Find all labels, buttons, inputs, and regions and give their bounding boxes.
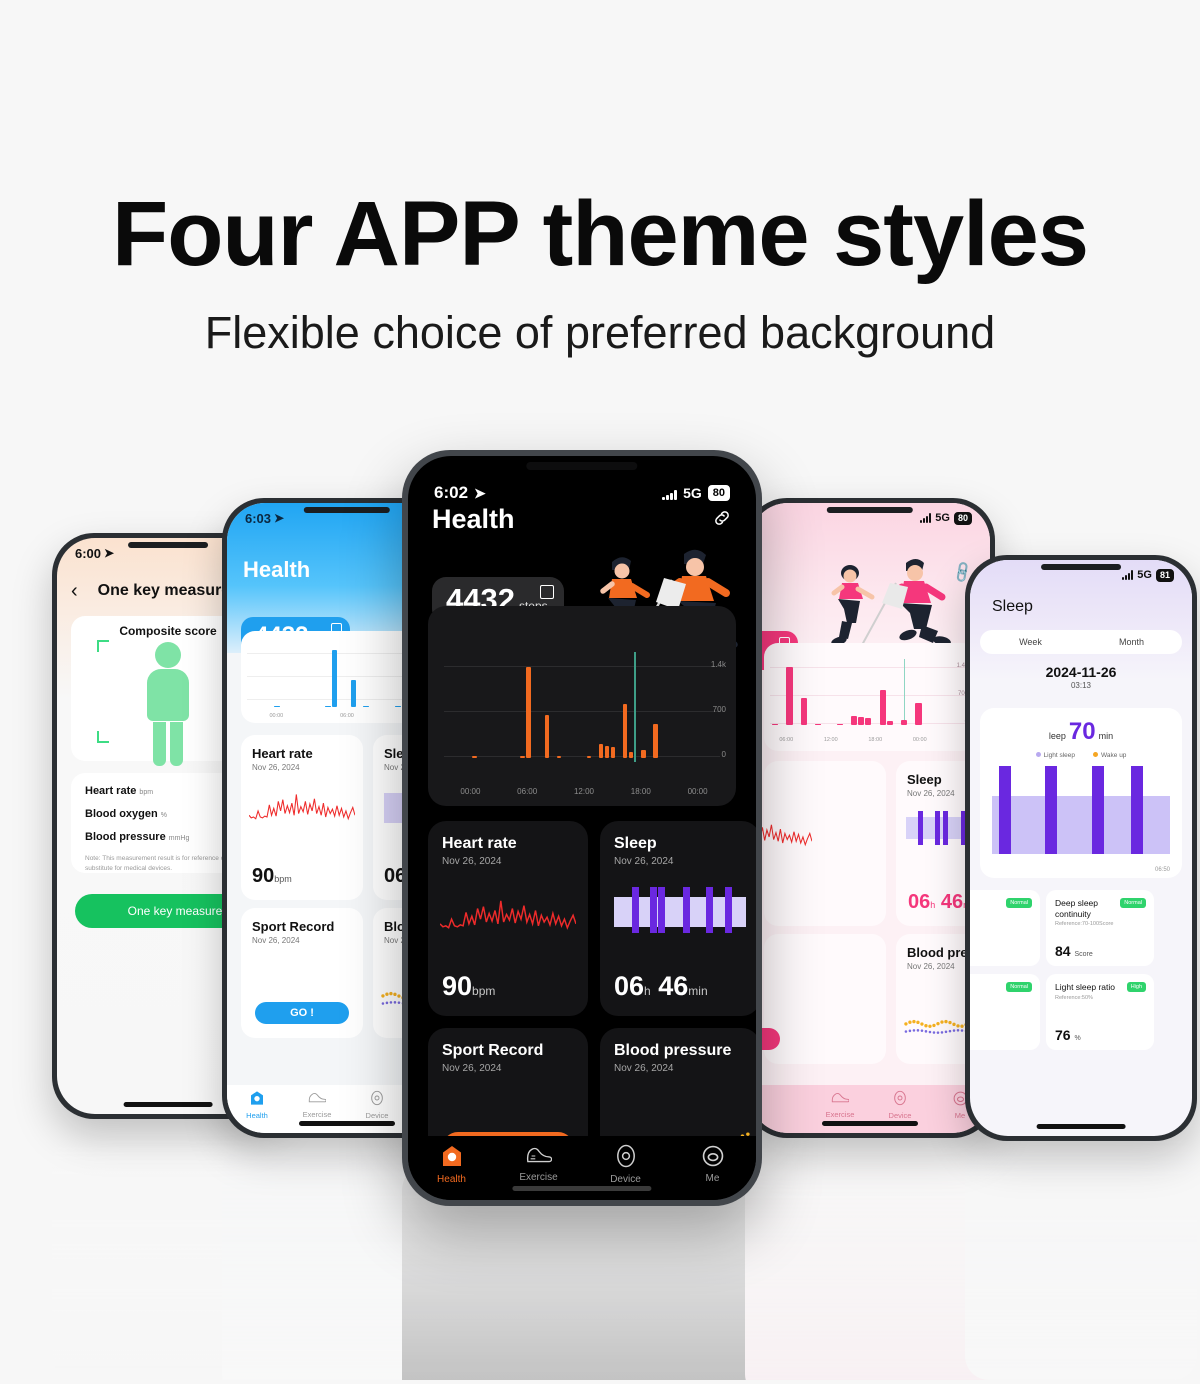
sleep-unit: min — [1099, 731, 1114, 741]
chevron-left-icon[interactable]: ‹ — [71, 581, 78, 601]
card-date: Nov 26, 2024 — [241, 934, 363, 945]
tab-label: Exercise — [519, 1172, 557, 1183]
sidebar-item-exercise[interactable]: Exercise — [810, 1091, 870, 1119]
sleep-total: leep70min — [980, 718, 1182, 746]
value-number: 84 — [1055, 943, 1071, 959]
person-icon — [669, 1145, 756, 1170]
bar — [641, 750, 646, 758]
bar — [786, 667, 792, 726]
share-icon[interactable] — [540, 585, 554, 599]
sleep-bar — [658, 887, 665, 933]
y-tick-0: 0 — [722, 750, 726, 759]
legend-light-sleep: Light sleep — [1036, 752, 1075, 759]
phone2-page-title: Health — [243, 557, 310, 583]
sleep-stage-chart — [992, 766, 1170, 854]
value-unit: bpm — [274, 874, 292, 884]
bar — [915, 703, 921, 725]
value-unit: Score — [1074, 951, 1092, 958]
y-tick-1400: 1.4k — [711, 660, 726, 669]
phone5-screen: 5G 81 Sleep Week Month 2024-11-26 03:13 … — [970, 560, 1192, 1136]
metric-unit: mmHg — [169, 835, 190, 842]
card-value: 90bpm — [252, 865, 292, 888]
card-date: Nov 26, 2024 — [600, 1060, 756, 1074]
bar — [472, 756, 477, 758]
human-body-icon — [147, 642, 189, 766]
legend-wake-up: Wake up — [1093, 752, 1126, 759]
phone5-page-title: Sleep — [992, 598, 1033, 616]
phone-mockup-dark-theme: 6:02 ➤ 5G 80 Health — [402, 450, 762, 1206]
signal-bars-icon — [920, 513, 931, 523]
metric-label: Blood oxygen — [85, 808, 158, 820]
promo-page: Four APP theme styles Flexible choice of… — [0, 0, 1200, 1384]
status-badge: High — [1127, 982, 1146, 992]
sleep-date: 2024-11-26 — [970, 664, 1192, 680]
metric-title: Deep sleep continuity — [1055, 898, 1121, 919]
metric-unit: % — [161, 812, 167, 819]
bar — [865, 718, 871, 725]
home-indicator — [299, 1121, 395, 1126]
steps-chart-ticks: 00:0006:0012:0018:0000:00 — [442, 787, 726, 796]
segment-week[interactable]: Week — [980, 630, 1081, 654]
shoe-icon — [287, 1091, 347, 1107]
sleep-bar — [706, 887, 713, 933]
signal-bars-icon — [662, 487, 677, 500]
value-number: 76 — [1055, 1027, 1071, 1043]
phone3-sleep-card[interactable]: Sleep Nov 26, 2024 06h 46min — [600, 821, 756, 1016]
ecg-line-icon — [249, 789, 355, 829]
tab-label: Me — [955, 1111, 965, 1120]
bar — [837, 724, 843, 725]
page-title: Four APP theme styles — [0, 188, 1200, 280]
shoe-icon — [810, 1091, 870, 1107]
bar — [772, 724, 778, 725]
bar — [801, 698, 807, 725]
bar — [605, 746, 610, 758]
sleep-metric-card[interactable]: Normal — [970, 890, 1040, 966]
sidebar-item-health[interactable]: Health — [227, 1090, 287, 1120]
signal-bars-icon — [1122, 570, 1133, 580]
bar — [526, 667, 531, 758]
bar — [351, 680, 356, 707]
sleep-bar — [683, 887, 690, 933]
tab-label: Me — [706, 1173, 720, 1184]
status-badge: Normal — [1120, 898, 1146, 908]
phone-mockup-pink-theme: 5G 80 🔗 — [745, 498, 995, 1138]
sleep-bar — [725, 887, 732, 933]
bar — [611, 747, 616, 758]
bar — [599, 744, 604, 758]
value-minutes: 46 — [941, 891, 963, 913]
value-unit: bpm — [472, 984, 495, 998]
bar — [520, 756, 525, 758]
tab-label: Exercise — [826, 1110, 855, 1119]
value-unit-m: min — [688, 984, 707, 998]
bar — [629, 752, 634, 758]
y-tick-700: 700 — [713, 705, 726, 714]
sidebar-item-device[interactable]: Device — [347, 1090, 407, 1120]
card-date: Nov 26, 2024 — [241, 761, 363, 772]
status-badge: Normal — [1006, 982, 1032, 992]
ecg-line-icon — [440, 893, 576, 941]
watch-icon — [870, 1090, 930, 1108]
network-type: 5G — [1137, 569, 1152, 581]
metric-value: 84 Score — [1055, 943, 1093, 959]
watch-icon — [582, 1144, 669, 1171]
bar — [587, 756, 592, 758]
page-subtitle: Flexible choice of preferred background — [0, 310, 1200, 355]
sidebar-item-device[interactable]: Device — [582, 1144, 669, 1185]
segment-month[interactable]: Month — [1081, 630, 1182, 654]
phone3-heart-rate-card[interactable]: Heart rate Nov 26, 2024 90bpm — [428, 821, 588, 1016]
bar — [858, 717, 864, 725]
value-unit-h: h — [930, 900, 935, 910]
card-title: Heart rate — [428, 821, 588, 853]
tab-label: Exercise — [303, 1110, 332, 1119]
phone5-status-bar: 5G 81 — [970, 560, 1192, 590]
phone3-steps-chart[interactable]: 1.4k 700 0 00:0006:0012:0018:0000:00 — [428, 606, 736, 806]
home-indicator — [1037, 1124, 1126, 1129]
card-value: 06h 46min — [614, 971, 708, 1002]
sleep-bar — [918, 811, 923, 845]
bar — [880, 690, 886, 725]
home-indicator — [512, 1186, 651, 1191]
sleep-metric-card[interactable]: Normal — [970, 974, 1040, 1050]
tab-label: Health — [437, 1174, 466, 1185]
metric-unit: bpm — [139, 789, 153, 796]
home-indicator — [822, 1121, 918, 1126]
deep-sleep-continuity-card[interactable]: Deep sleep continuity Reference:70-100Sc… — [1046, 890, 1154, 966]
location-arrow-icon: ➤ — [104, 546, 114, 560]
bar — [653, 724, 658, 758]
value-hours: 06 — [614, 971, 644, 1001]
card-value: 90bpm — [442, 971, 495, 1002]
card-title: Sleep — [600, 821, 756, 853]
period-segmented-control[interactable]: Week Month — [980, 630, 1182, 654]
battery-indicator: 80 — [708, 485, 730, 501]
tab-label: Device — [610, 1174, 641, 1185]
bar — [851, 716, 857, 725]
card-title: Sport Record — [428, 1028, 588, 1060]
value-number: 90 — [252, 865, 274, 887]
sidebar-item-exercise[interactable]: Exercise — [495, 1146, 582, 1183]
card-date: Nov 26, 2024 — [428, 853, 588, 867]
metric-value: 76 % — [1055, 1027, 1081, 1043]
sleep-label: leep — [1049, 731, 1066, 741]
bar — [325, 706, 330, 707]
location-arrow-icon: ➤ — [474, 485, 486, 502]
phone2-sport-record-card[interactable]: Sport Record Nov 26, 2024 GO ! — [241, 908, 363, 1038]
network-type: 5G — [935, 512, 950, 524]
phone1-clock: 6:00 — [75, 546, 101, 561]
home-indicator — [124, 1102, 213, 1107]
bar — [815, 724, 821, 725]
phone3-screen: 6:02 ➤ 5G 80 Health — [408, 456, 756, 1200]
metric-title: Light sleep ratio — [1055, 982, 1121, 993]
sleep-date-block: 2024-11-26 03:13 — [970, 664, 1192, 690]
value-unit: % — [1074, 1035, 1080, 1042]
card-date: Nov 26, 2024 — [428, 1060, 588, 1074]
steps-bars — [448, 658, 682, 758]
sleep-legend: Light sleep Wake up — [980, 752, 1182, 759]
tab-label: Device — [366, 1111, 389, 1120]
home-heart-icon — [408, 1144, 495, 1171]
sidebar-item-exercise[interactable]: Exercise — [287, 1091, 347, 1119]
value-unit-h: h — [644, 984, 651, 998]
sleep-summary-card[interactable]: leep70min Light sleep Wake up 06:50 — [980, 708, 1182, 878]
phone4-status-bar: 5G 80 — [750, 503, 990, 533]
sleep-bar — [632, 887, 639, 933]
bar — [623, 704, 628, 758]
phone2-clock: 6:03 — [245, 511, 271, 526]
phone4-heart-rate-card[interactable] — [764, 761, 886, 926]
battery-indicator: 80 — [954, 512, 972, 525]
location-arrow-icon: ➤ — [274, 511, 284, 525]
metric-label: Heart rate — [85, 785, 136, 797]
bar — [395, 706, 400, 707]
steps-bars — [772, 661, 936, 725]
phone4-sport-record-card[interactable]: ord — [764, 934, 886, 1064]
bar — [557, 756, 562, 758]
card-date: Nov 26, 2024 — [600, 853, 756, 867]
light-sleep-ratio-card[interactable]: Light sleep ratio Reference:50% 76 % Hig… — [1046, 974, 1154, 1050]
metric-reference: Reference:70-100Score — [1055, 921, 1145, 927]
phone3-clock: 6:02 — [434, 483, 468, 503]
steps-chart-ticks: 06:0012:0018:0000:00 — [764, 737, 942, 743]
sleep-chart-time-label: 06:50 — [1155, 867, 1170, 873]
value-minutes: 46 — [658, 971, 688, 1001]
value-number: 90 — [442, 971, 472, 1001]
value-hours: 06 — [908, 891, 930, 913]
phone1-page-title: One key measure — [98, 582, 231, 600]
link-icon[interactable] — [712, 508, 732, 533]
sleep-bar — [650, 887, 657, 933]
network-type: 5G — [683, 485, 702, 501]
bar — [901, 720, 907, 725]
home-heart-icon — [227, 1090, 287, 1108]
scan-corner-icon — [97, 640, 109, 652]
bar — [887, 721, 893, 725]
metric-reference: Reference:50% — [1055, 995, 1145, 1001]
shoe-icon — [495, 1146, 582, 1169]
bar — [545, 715, 550, 758]
sidebar-item-device[interactable]: Device — [870, 1090, 930, 1120]
watch-icon — [347, 1090, 407, 1108]
phone4-screen: 5G 80 🔗 — [750, 503, 990, 1133]
scan-corner-icon — [97, 731, 109, 743]
card-title: ord — [750, 934, 886, 960]
card-title: Sport Record — [241, 908, 363, 934]
phone4-steps-chart[interactable]: 1.4k 700 0 06:0012:0018:0000:00 — [764, 643, 976, 751]
card-title: Heart rate — [241, 735, 363, 761]
speaker-notch — [526, 462, 637, 470]
sleep-deep-bars — [614, 887, 746, 933]
sleep-minutes: 70 — [1069, 718, 1096, 745]
sleep-bar — [935, 811, 940, 845]
sidebar-item-health[interactable]: Health — [408, 1144, 495, 1185]
card-title: Blood pressure — [600, 1028, 756, 1060]
go-button[interactable]: GO ! — [255, 1002, 349, 1024]
phone-mockup-sleep-detail: 5G 81 Sleep Week Month 2024-11-26 03:13 … — [965, 555, 1197, 1141]
bar — [363, 706, 368, 707]
bar — [274, 706, 279, 707]
bar — [332, 650, 337, 707]
tab-label: Device — [889, 1111, 912, 1120]
phone2-heart-rate-card[interactable]: Heart rate Nov 26, 2024 90bpm — [241, 735, 363, 900]
sidebar-item-me[interactable]: Me — [669, 1145, 756, 1184]
tab-label: Health — [246, 1111, 268, 1120]
sleep-bar — [943, 811, 948, 845]
metric-label: Blood pressure — [85, 831, 166, 843]
sleep-time: 03:13 — [970, 681, 1192, 690]
status-badge: Normal — [1006, 898, 1032, 908]
battery-indicator: 81 — [1156, 569, 1174, 582]
phone3-page-title: Health — [432, 504, 515, 535]
